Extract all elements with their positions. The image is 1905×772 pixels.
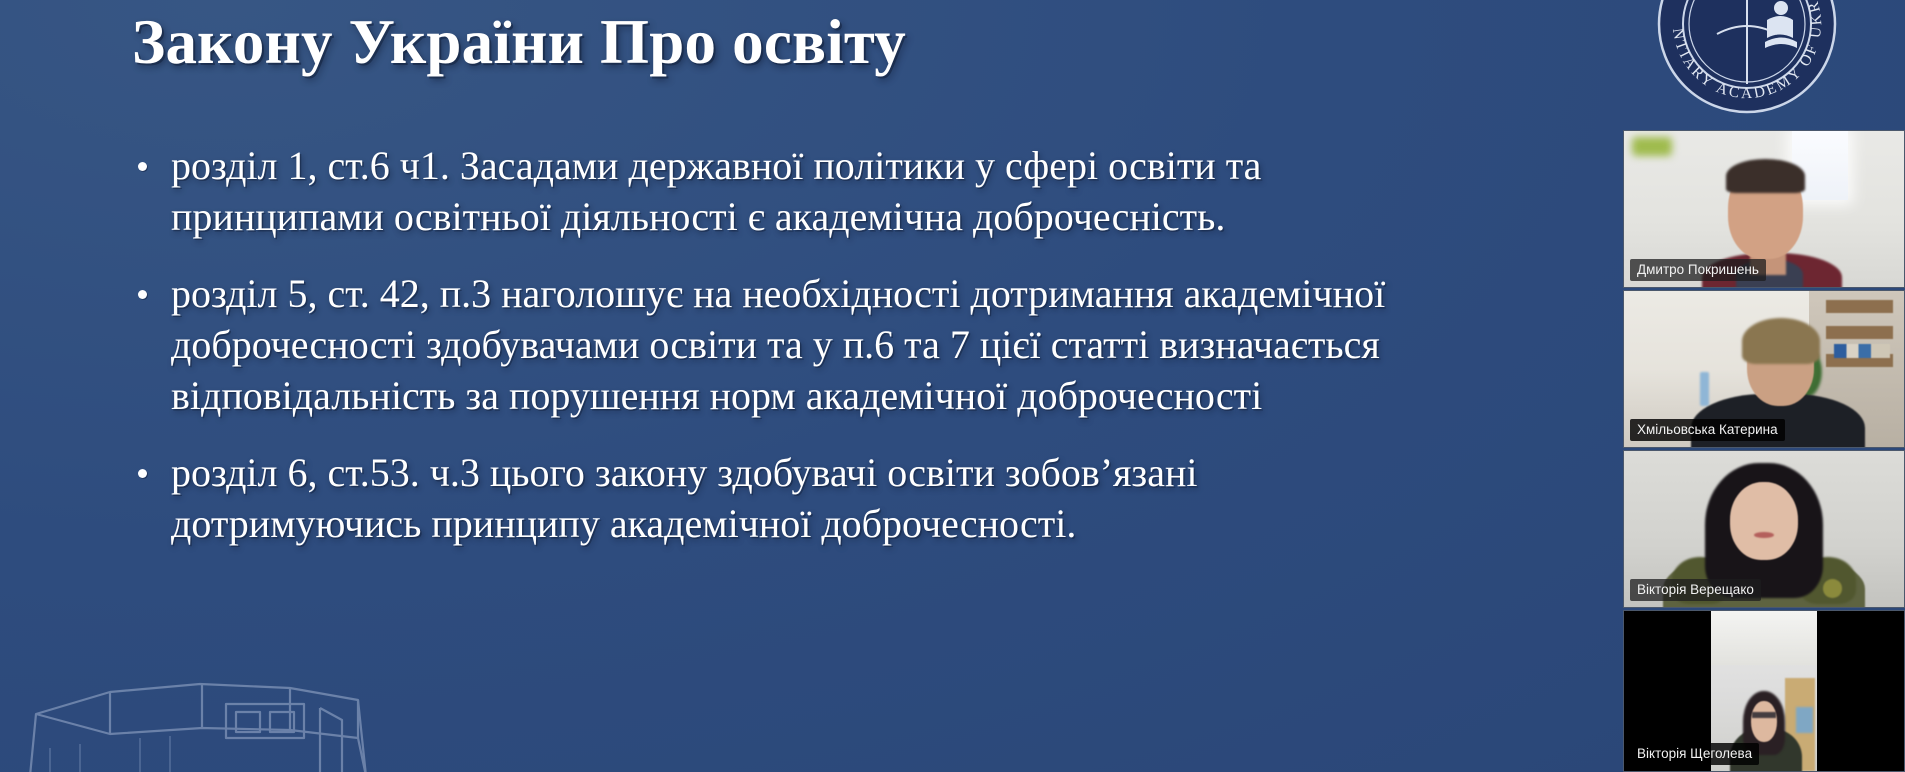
bullet-item: розділ 6, ст.53. ч.3 цього закону здобув…	[126, 447, 1626, 549]
participant-nameplate: Дмитро Покришень	[1630, 259, 1766, 281]
slide-title: Закону України Про освіту	[132, 6, 906, 79]
screen-share-stage: PENITENTIARY ACADEMY OF UKRAINE 1978 Зак…	[0, 0, 1905, 772]
bullet-item: розділ 1, ст.6 ч1. Засадами державної по…	[126, 140, 1626, 242]
participant-nameplate: Хмільовська Катерина	[1630, 419, 1785, 441]
participant-tile[interactable]: Вікторія Верещако	[1623, 450, 1905, 608]
participant-tile[interactable]: Вікторія Щеголева	[1623, 610, 1905, 772]
building-line-art	[0, 588, 550, 772]
participant-nameplate: Вікторія Щеголева	[1630, 743, 1759, 765]
participant-tile[interactable]: Дмитро Покришень	[1623, 130, 1905, 288]
slide-bullet-list: розділ 1, ст.6 ч1. Засадами державної по…	[126, 140, 1626, 575]
participant-filmstrip: Дмитро Покришень Хмільовська Катерина Ві…	[1615, 0, 1905, 772]
bullet-item: розділ 5, ст. 42, п.3 наголошує на необх…	[126, 268, 1626, 421]
participant-tile[interactable]: Хмільовська Катерина	[1623, 290, 1905, 448]
participant-nameplate: Вікторія Верещако	[1630, 579, 1761, 601]
